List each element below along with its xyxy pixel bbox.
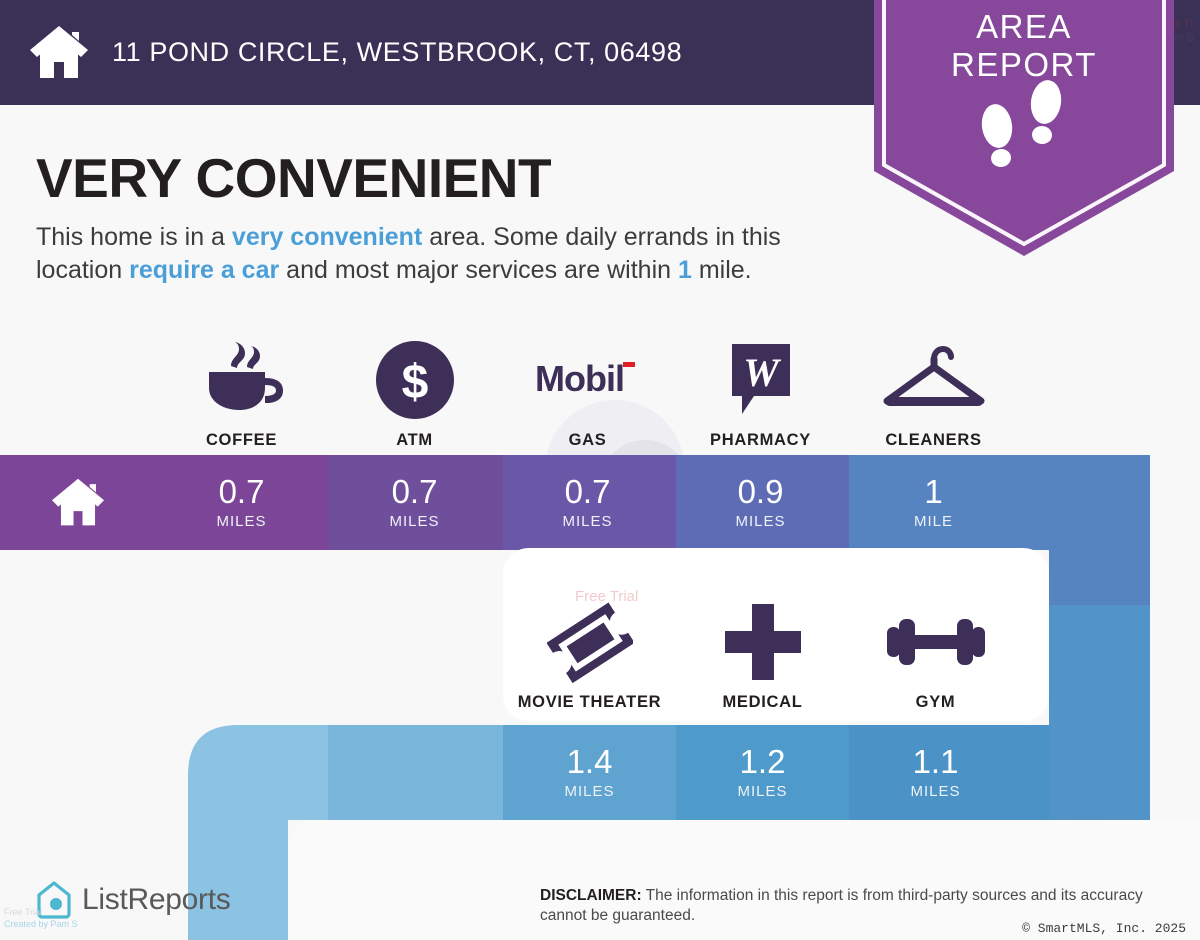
home-icon xyxy=(49,477,107,529)
distance-unit: MILES xyxy=(562,513,612,530)
distance-cell: 0.7 MILES xyxy=(501,455,674,550)
category-gym: GYM xyxy=(849,592,1022,712)
category-cleaners: CLEANERS xyxy=(847,330,1020,450)
svg-text:W: W xyxy=(743,350,781,395)
category-medical: MEDICAL xyxy=(676,592,849,712)
distance-unit: MILE xyxy=(914,513,953,530)
distance-unit: MILES xyxy=(564,783,614,800)
category-label: GYM xyxy=(916,693,956,712)
distance-cell: 0.7 MILES xyxy=(155,455,328,550)
distance-unit: MILES xyxy=(216,513,266,530)
distance-cell: 1.1 MILES xyxy=(849,725,1022,820)
summary-part-1: This home is in a xyxy=(36,223,232,251)
page-title: VERY CONVENIENT xyxy=(36,146,551,210)
home-marker-cell xyxy=(0,455,155,550)
category-row-1-icons: COFFEE $ ATM Mobil GAS W PHARMACY xyxy=(155,330,1200,450)
category-movie-theater: MOVIE THEATER xyxy=(503,592,676,712)
summary-part-4: mile. xyxy=(692,256,752,284)
category-label: PHARMACY xyxy=(710,431,811,450)
distance-cell: 1 MILE xyxy=(847,455,1020,550)
distance-cell: 0.9 MILES xyxy=(674,455,847,550)
distance-unit: MILES xyxy=(737,783,787,800)
category-gas: Mobil GAS xyxy=(501,330,674,450)
category-label: MOVIE THEATER xyxy=(518,693,662,712)
dollar-circle-icon: $ xyxy=(376,338,454,422)
medical-cross-icon xyxy=(723,600,803,684)
distance-value: 0.7 xyxy=(392,475,438,508)
movie-ticket-icon xyxy=(547,600,633,684)
summary-part-3: and most major services are within xyxy=(279,256,678,284)
category-atm: $ ATM xyxy=(328,330,501,450)
category-row-1-distances: 0.7 MILES 0.7 MILES 0.7 MILES 0.9 MILES … xyxy=(155,455,1200,550)
category-coffee: COFFEE xyxy=(155,330,328,450)
listreports-logo[interactable]: ListReports xyxy=(36,880,230,920)
distance-unit: MILES xyxy=(910,783,960,800)
walgreens-w-icon: W xyxy=(728,338,794,422)
distance-value: 0.7 xyxy=(219,475,265,508)
coffee-cup-icon xyxy=(199,338,285,422)
listreports-house-icon xyxy=(36,880,72,920)
category-row-2-distances: 1.4 MILES 1.2 MILES 1.1 MILES xyxy=(503,725,1049,820)
summary-highlight-2: require a car xyxy=(129,256,279,284)
category-row-2-icons: MOVIE THEATER MEDICAL GYM xyxy=(503,592,1049,712)
copyright-notice: © SmartMLS, Inc. 2025 xyxy=(1022,921,1186,936)
summary-highlight-3: 1 xyxy=(678,256,692,284)
distance-value: 0.7 xyxy=(565,475,611,508)
distance-cell: 0.7 MILES xyxy=(328,455,501,550)
home-icon xyxy=(26,22,92,84)
dumbbell-icon xyxy=(883,600,989,684)
property-address: 11 POND CIRCLE, WESTBROOK, CT, 06498 xyxy=(112,37,682,68)
svg-text:Mobil: Mobil xyxy=(535,358,624,399)
distance-cell: 1.4 MILES xyxy=(503,725,676,820)
listreports-wordmark: ListReports xyxy=(82,883,230,917)
distance-value: 1.1 xyxy=(913,745,959,778)
clothes-hanger-icon xyxy=(881,338,987,422)
category-label: MEDICAL xyxy=(722,693,802,712)
disclaimer-label: DISCLAIMER: xyxy=(540,887,642,904)
summary-paragraph: This home is in a very convenient area. … xyxy=(36,221,866,286)
svg-text:$: $ xyxy=(401,356,428,409)
category-label: COFFEE xyxy=(206,431,277,450)
category-label: ATM xyxy=(396,431,433,450)
category-label: CLEANERS xyxy=(885,431,981,450)
area-report-badge: AREA REPORT xyxy=(874,0,1174,256)
distance-value: 1 xyxy=(924,475,942,508)
distance-unit: MILES xyxy=(389,513,439,530)
summary-highlight-1: very convenient xyxy=(232,223,422,251)
distance-value: 1.4 xyxy=(567,745,613,778)
mobil-logo-icon: Mobil xyxy=(535,338,641,422)
distance-value: 1.2 xyxy=(740,745,786,778)
category-label: GAS xyxy=(569,431,607,450)
distance-unit: MILES xyxy=(735,513,785,530)
distance-value: 0.9 xyxy=(738,475,784,508)
distance-cell: 1.2 MILES xyxy=(676,725,849,820)
category-pharmacy: W PHARMACY xyxy=(674,330,847,450)
